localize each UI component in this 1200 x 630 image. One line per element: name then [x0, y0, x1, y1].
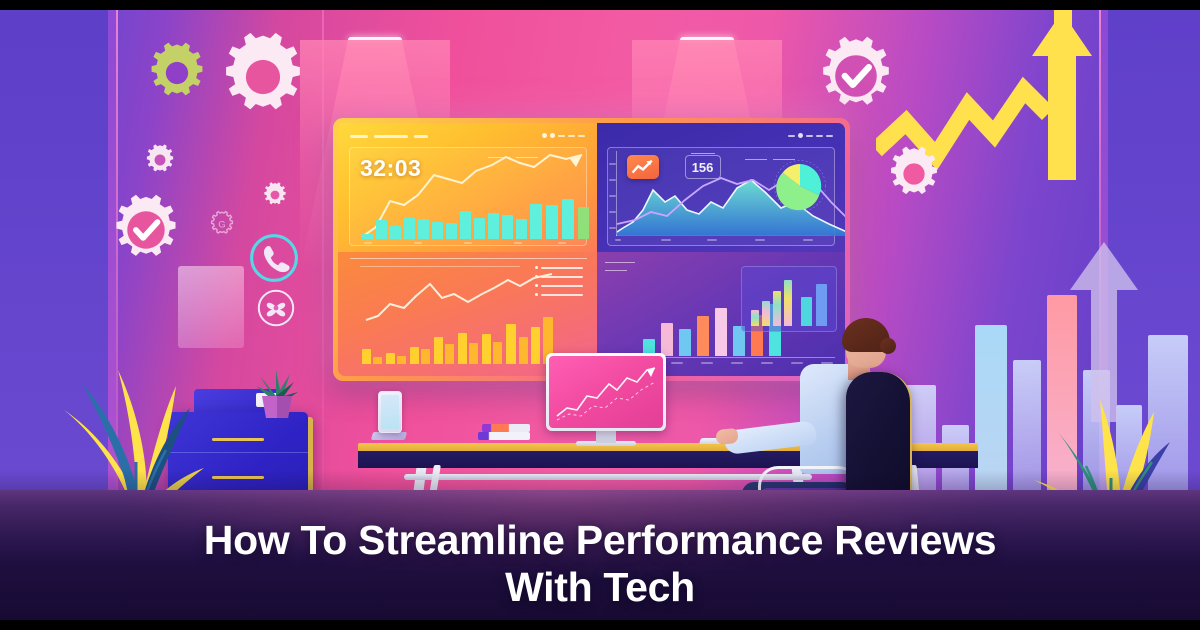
gear-outline-icon: G	[208, 210, 236, 238]
bar	[474, 218, 485, 239]
bar	[784, 280, 792, 326]
phone-screen	[381, 395, 399, 429]
menu-icon[interactable]	[826, 135, 833, 137]
bar	[432, 222, 443, 239]
dashboard-display[interactable]: 32:03	[333, 118, 850, 381]
desk-monitor-line-chart	[555, 364, 659, 422]
circle-icon[interactable]	[542, 133, 547, 138]
bar-chart-left-bottom	[362, 308, 558, 364]
performance-timer-panel: 32:03	[338, 123, 597, 252]
chair-backrest	[846, 372, 912, 504]
bar	[445, 344, 454, 364]
menu-icon[interactable]	[578, 135, 585, 137]
bar	[404, 218, 415, 239]
page-title-line-1: How To Streamline Performance Reviews	[100, 517, 1100, 565]
svg-text:G: G	[218, 219, 225, 230]
gear-icon	[886, 146, 942, 202]
pie-chart	[771, 157, 829, 215]
bar	[530, 204, 542, 239]
bar-chart-left	[360, 179, 588, 239]
circle-icon[interactable]	[798, 133, 803, 138]
bar	[578, 207, 589, 239]
desk-monitor-screen	[549, 356, 663, 428]
bar	[506, 324, 516, 364]
bar	[816, 284, 827, 326]
bar	[697, 316, 709, 356]
dashboard-panel-right: 156	[597, 123, 845, 376]
dots-icon[interactable]	[816, 135, 823, 137]
panel-left-toolbar[interactable]	[542, 133, 585, 138]
bar	[488, 213, 499, 239]
bar	[362, 234, 373, 239]
analytics-panel: 156	[597, 123, 845, 252]
gear-check-icon	[110, 194, 182, 266]
bar	[460, 211, 471, 239]
bar	[386, 353, 395, 364]
list-item	[535, 266, 583, 269]
gear-small-icon	[144, 144, 176, 176]
pencil-icon[interactable]	[806, 135, 813, 137]
background-bar	[975, 325, 1007, 500]
bar	[434, 337, 443, 364]
bar	[751, 310, 759, 326]
pencil-icon[interactable]	[558, 135, 565, 137]
gear-check-icon	[816, 36, 896, 116]
bar	[546, 205, 558, 239]
page-title-line-2: With Tech	[100, 564, 1100, 612]
gear-icon	[146, 42, 208, 104]
bar	[418, 219, 429, 239]
bar	[661, 323, 673, 356]
bar	[762, 301, 770, 326]
panel-divider	[350, 258, 587, 259]
bar	[773, 291, 781, 326]
bar	[362, 349, 371, 364]
bar	[715, 308, 727, 356]
bar	[376, 220, 387, 239]
book	[482, 424, 530, 432]
dots-icon[interactable]	[568, 135, 575, 137]
gear-icon	[218, 32, 308, 122]
bar	[516, 219, 527, 239]
desk-monitor-neck	[596, 429, 616, 443]
book	[478, 432, 530, 440]
panel-right-toolbar[interactable]	[788, 133, 833, 138]
bar	[469, 343, 478, 364]
bar	[446, 223, 457, 239]
bar	[390, 226, 401, 239]
stacked-bar-chart	[751, 276, 829, 326]
bars-icon[interactable]	[788, 135, 795, 137]
circle-icon[interactable]	[550, 133, 555, 138]
bar	[458, 333, 467, 364]
bar	[373, 357, 382, 364]
bar	[531, 327, 540, 364]
bar	[562, 199, 574, 239]
display-crossbar	[404, 474, 812, 480]
bar	[410, 347, 419, 364]
bar	[519, 337, 528, 364]
phone-stand	[371, 432, 407, 440]
desk-monitor[interactable]	[546, 353, 666, 431]
bar	[421, 349, 430, 364]
bar	[493, 342, 502, 364]
bar	[502, 215, 513, 239]
letterbox-top	[0, 0, 1200, 10]
bar	[482, 334, 491, 364]
dashboard-panel-left: 32:03	[338, 123, 597, 376]
phone-icon	[248, 232, 300, 284]
succulent-plant	[250, 362, 302, 420]
bar	[397, 356, 406, 364]
page-title: How To Streamline Performance Reviews Wi…	[0, 517, 1200, 612]
legend-line	[745, 159, 767, 160]
fan-icon	[256, 288, 296, 328]
poster-image: G	[0, 0, 1200, 630]
gear-small-icon	[262, 182, 288, 208]
smartphone[interactable]	[378, 391, 402, 433]
letterbox-bottom	[0, 620, 1200, 630]
person-hair-bun	[880, 338, 896, 354]
bar	[801, 297, 812, 326]
bar	[679, 329, 691, 356]
